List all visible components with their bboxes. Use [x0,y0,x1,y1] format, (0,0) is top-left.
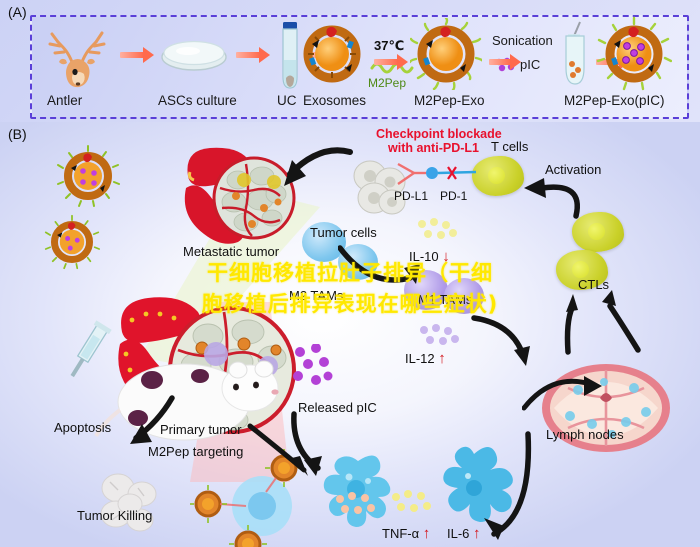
tumor-killing-icon [88,462,174,547]
exosome-icon [300,22,364,86]
watermark-line-2: 胞移植后排异表现在哪些症状) [0,289,700,320]
label-checkpoint-blockade-l2: with anti-PD-L1 [388,141,479,155]
panel-a-label-uc: UC [277,93,297,108]
m2pep-exo-pic-icon [596,16,672,92]
antler-deer-icon [42,22,118,88]
pd-l1-pd-1-interaction-icon [396,158,508,192]
panel-a-temperature: 37℃ [374,38,404,54]
label-t-cells: T cells [491,139,528,154]
label-apoptosis: Apoptosis [54,420,111,435]
panel-a-label-m2pep: M2Pep [368,76,406,90]
panel-a-label-exosomes: Exosomes [303,93,366,108]
label-il6: IL-6 ↑ [447,525,481,542]
syringe-icon [58,318,114,390]
figure-root: (A) Antler ASCs culture [0,0,700,547]
tnf-alpha-dots [336,492,382,518]
label-il6-text: IL-6 [447,526,469,541]
label-tnf-alpha-text: TNF-α [382,526,419,541]
label-metastatic-tumor: Metastatic tumor [183,244,279,259]
panel-a: (A) Antler ASCs culture [0,0,700,122]
panel-a-label-ascs: ASCs culture [158,93,237,108]
tnf-up-arrow: ↑ [423,525,431,542]
panel-a-label-antler: Antler [47,93,82,108]
watermark-line-1: 干细胞移植拉肚子排异（干细 [0,258,700,289]
panel-a-label-pic: pIC [520,57,540,72]
watermark: 干细胞移植拉肚子排异（干细 胞移植后排异表现在哪些症状) [0,258,700,320]
nanoparticle-1 [56,144,120,208]
label-pd-1: PD-1 [440,189,467,203]
arrow-maturedc-to-lymphnodes [480,422,550,540]
arrow-m1tams-to-ctls [470,314,540,368]
il12-up-arrow: ↑ [438,350,446,367]
panel-a-label: (A) [8,4,27,20]
panel-b: Metastatic tumor Tumor cells Checkpoint … [0,122,700,547]
label-checkpoint-blockade-l1: Checkpoint blockade [376,127,502,141]
label-tnf-alpha: TNF-α ↑ [382,525,430,542]
m2pep-exo-icon [410,18,482,90]
panel-b-label: (B) [8,126,27,142]
label-il12-text: IL-12 [405,351,435,366]
released-pic-dots-icon [290,344,336,394]
arrow-activation [518,170,588,228]
label-pd-l1: PD-L1 [394,189,428,203]
arrow-tumor-to-dc-region [246,422,316,492]
il10-cytokine-dots [418,218,462,244]
panel-a-label-sonication: Sonication [492,33,553,48]
label-lymph-nodes: Lymph nodes [546,427,624,442]
arrow-lymphnodes-inflow [522,370,606,416]
petri-dish-icon [158,37,230,75]
panel-a-label-m2pepexo: M2Pep-Exo [414,93,485,108]
label-m2pep-targeting: M2Pep targeting [148,444,243,459]
label-tumor-killing: Tumor Killing [77,508,152,523]
sonication-probe-icon [558,20,592,92]
arrow-tumorcells-to-metastatic [262,142,358,202]
panel-a-label-m2pepexopic: M2Pep-Exo(pIC) [564,93,665,108]
il6-dots [392,490,438,516]
il12-cytokine-dots [420,324,464,350]
label-primary-tumor: Primary tumor [160,422,242,437]
label-il12: IL-12 ↑ [405,350,446,367]
